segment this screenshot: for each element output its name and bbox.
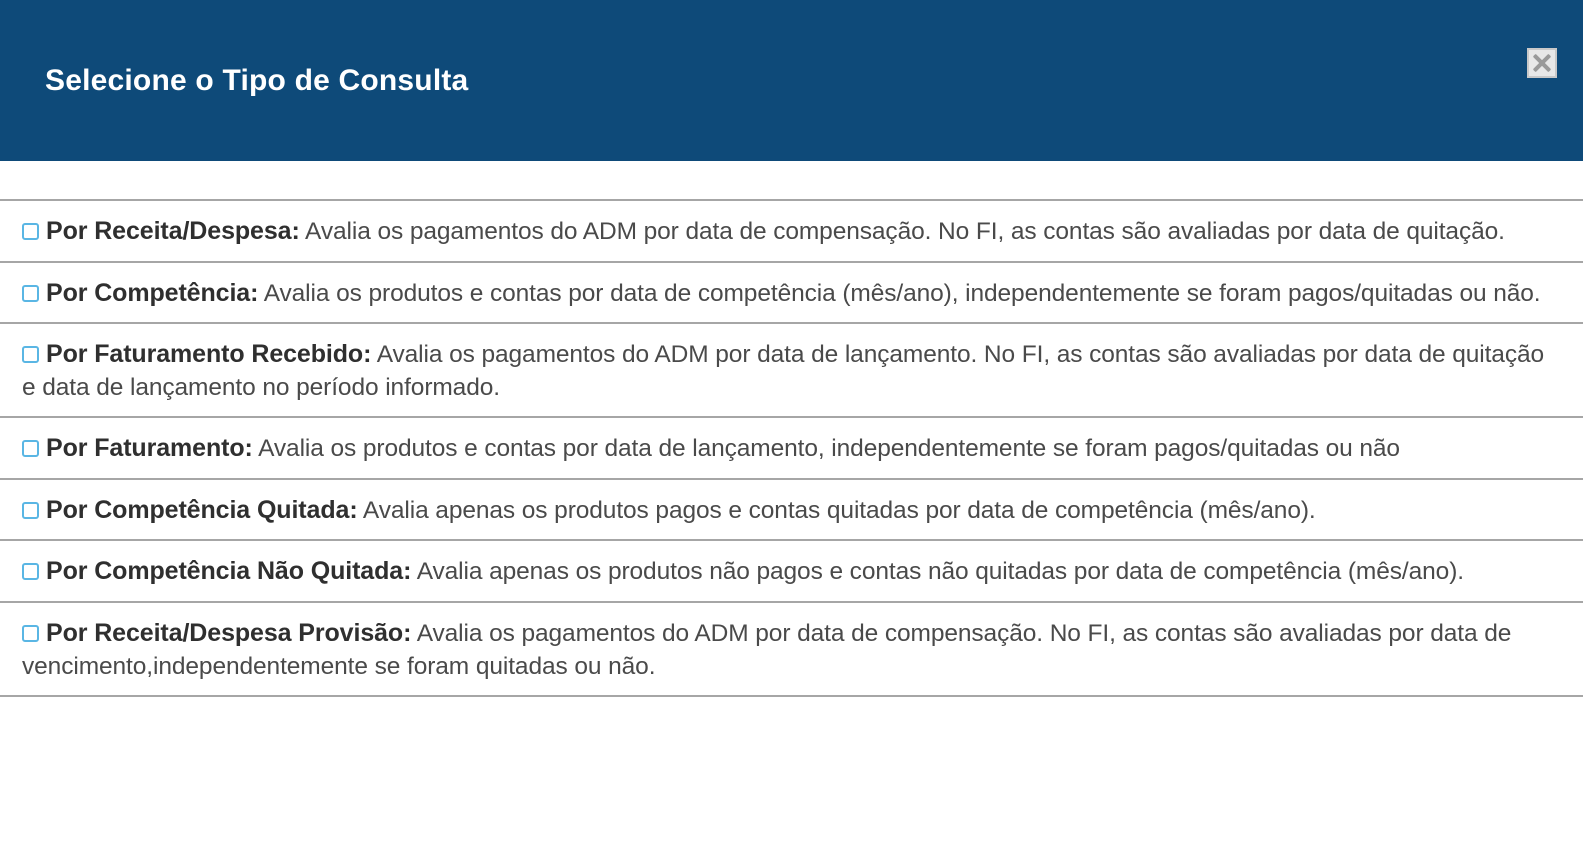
option-label: Por Competência Não Quitada: <box>46 557 411 585</box>
close-icon <box>1529 50 1555 76</box>
option-checkbox-0[interactable] <box>22 223 39 240</box>
option-row-2[interactable]: Por Faturamento Recebido: Avalia os paga… <box>0 322 1583 416</box>
option-text: Por Competência Não Quitada: Avalia apen… <box>22 555 1559 589</box>
option-text: Por Competência Quitada: Avalia apenas o… <box>22 494 1559 528</box>
consulta-type-dialog: Selecione o Tipo de Consulta Por Receita… <box>0 0 1583 854</box>
consulta-type-option-list: Por Receita/Despesa: Avalia os pagamento… <box>0 199 1583 697</box>
option-checkbox-2[interactable] <box>22 346 39 363</box>
option-description: Avalia os produtos e contas por data de … <box>258 435 1400 462</box>
option-text: Por Competência: Avalia os produtos e co… <box>22 277 1559 311</box>
option-description: Avalia os pagamentos do ADM por data de … <box>305 218 1505 245</box>
option-text: Por Receita/Despesa Provisão: Avalia os … <box>22 617 1559 683</box>
option-text: Por Faturamento Recebido: Avalia os paga… <box>22 338 1559 404</box>
option-label: Por Competência Quitada: <box>46 496 358 524</box>
option-row-3[interactable]: Por Faturamento: Avalia os produtos e co… <box>0 416 1583 478</box>
option-text: Por Receita/Despesa: Avalia os pagamento… <box>22 215 1559 249</box>
close-button[interactable] <box>1527 48 1557 78</box>
dialog-title: Selecione o Tipo de Consulta <box>45 64 468 97</box>
option-row-5[interactable]: Por Competência Não Quitada: Avalia apen… <box>0 539 1583 601</box>
option-label: Por Faturamento Recebido: <box>46 340 371 368</box>
option-row-6[interactable]: Por Receita/Despesa Provisão: Avalia os … <box>0 601 1583 697</box>
option-label: Por Faturamento: <box>46 434 253 462</box>
option-row-4[interactable]: Por Competência Quitada: Avalia apenas o… <box>0 478 1583 540</box>
option-description: Avalia os produtos e contas por data de … <box>264 280 1541 307</box>
option-row-0[interactable]: Por Receita/Despesa: Avalia os pagamento… <box>0 199 1583 261</box>
option-row-1[interactable]: Por Competência: Avalia os produtos e co… <box>0 261 1583 323</box>
option-label: Por Competência: <box>46 279 258 307</box>
body-top-spacer <box>0 161 1583 199</box>
option-checkbox-4[interactable] <box>22 502 39 519</box>
option-description: Avalia apenas os produtos pagos e contas… <box>363 497 1316 524</box>
dialog-header: Selecione o Tipo de Consulta <box>0 0 1583 161</box>
option-label: Por Receita/Despesa: <box>46 217 300 245</box>
option-checkbox-5[interactable] <box>22 563 39 580</box>
option-description: Avalia apenas os produtos não pagos e co… <box>417 558 1464 585</box>
option-checkbox-3[interactable] <box>22 440 39 457</box>
option-text: Por Faturamento: Avalia os produtos e co… <box>22 432 1559 466</box>
option-label: Por Receita/Despesa Provisão: <box>46 619 411 647</box>
option-checkbox-1[interactable] <box>22 285 39 302</box>
option-checkbox-6[interactable] <box>22 625 39 642</box>
dialog-body: Por Receita/Despesa: Avalia os pagamento… <box>0 161 1583 697</box>
